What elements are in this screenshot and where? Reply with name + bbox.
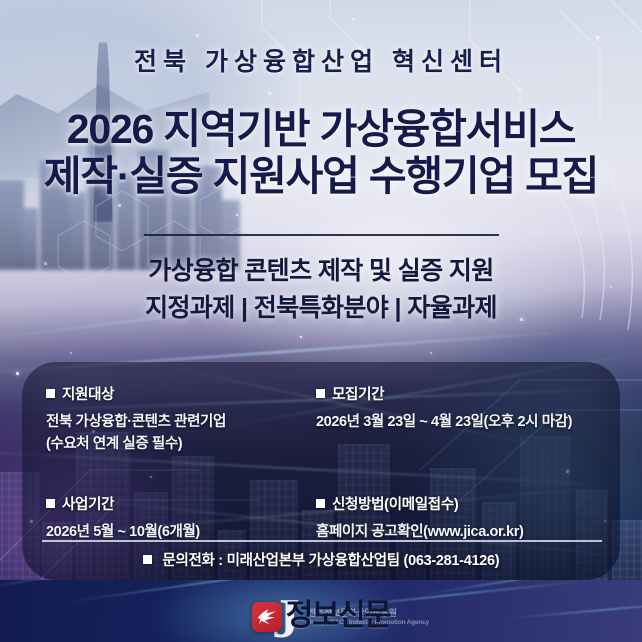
info-item-support-target: 지원대상 전북 가상융합·콘텐츠 관련기업 (수요처 연계 실증 필수) <box>46 383 316 456</box>
info-heading-label: 신청방법(이메일접수) <box>332 493 458 514</box>
contact-text: 문의전화 : 미래산업본부 가상융합산업팀 (063-281-4126) <box>162 553 499 569</box>
contact-line: 문의전화 : 미래산업본부 가상융합산업팀 (063-281-4126) <box>0 549 642 570</box>
bullet-square-icon <box>316 389 325 398</box>
info-heading: 모집기간 <box>316 383 606 404</box>
panel-divider <box>42 540 602 542</box>
info-body-line-1: 전북 가상융합·콘텐츠 관련기업 <box>46 411 316 433</box>
info-row: 지원대상 전북 가상융합·콘텐츠 관련기업 (수요처 연계 실증 필수) 모집기… <box>46 383 606 456</box>
jeongbo-sinmun-wordmark: 정보신문 <box>286 601 390 631</box>
footer-logo-area: J 전주정보문화산업진흥원 Jeonju IT&CT Industry Prom… <box>0 580 642 642</box>
jeongbo-sinmun-logo-icon <box>252 602 282 632</box>
info-heading: 신청방법(이메일접수) <box>316 493 606 514</box>
poster-subtitle-line-1: 가상융합 콘텐츠 제작 및 실증 지원 <box>0 251 642 287</box>
info-item-application-method: 신청방법(이메일접수) 홈페이지 공고확인(www.jica.or.kr) <box>316 493 606 543</box>
info-heading: 지원대상 <box>46 383 316 404</box>
poster-content: 전북 가상융합산업 혁신센터 2026 지역기반 가상융합서비스 제작·실증 지… <box>0 0 642 642</box>
poster-title-line-2: 제작·실증 지원사업 수행기업 모집 <box>0 142 642 202</box>
title-subtitle-divider <box>144 234 499 236</box>
footer-logo[interactable]: J 전주정보문화산업진흥원 Jeonju IT&CT Industry Prom… <box>252 601 390 641</box>
info-heading: 사업기간 <box>46 493 316 514</box>
info-body-line-1: 2026년 3월 23일 ~ 4월 23일(오후 2시 마감) <box>316 411 606 433</box>
info-body-line-2: (수요처 연계 실증 필수) <box>46 433 316 455</box>
info-item-project-period: 사업기간 2026년 5월 ~ 10월(6개월) <box>46 493 316 543</box>
bullet-square-icon <box>316 499 325 508</box>
bullet-square-icon <box>143 555 152 564</box>
poster-kicker: 전북 가상융합산업 혁신센터 <box>0 42 642 78</box>
info-heading-label: 사업기간 <box>62 493 114 514</box>
bullet-square-icon <box>46 499 55 508</box>
info-heading-label: 모집기간 <box>332 383 384 404</box>
poster-subtitle-line-2: 지정과제 | 전북특화분야 | 자율과제 <box>0 288 642 324</box>
info-heading-label: 지원대상 <box>62 383 114 404</box>
info-row: 사업기간 2026년 5월 ~ 10월(6개월) 신청방법(이메일접수) 홈페이… <box>46 493 606 543</box>
info-item-recruitment-period: 모집기간 2026년 3월 23일 ~ 4월 23일(오후 2시 마감) <box>316 383 606 456</box>
info-grid: 지원대상 전북 가상융합·콘텐츠 관련기업 (수요처 연계 실증 필수) 모집기… <box>46 383 606 543</box>
footer-bar: J 전주정보문화산업진흥원 Jeonju IT&CT Industry Prom… <box>0 580 642 642</box>
poster-canvas: 전북 가상융합산업 혁신센터 2026 지역기반 가상융합서비스 제작·실증 지… <box>0 0 642 642</box>
bullet-square-icon <box>46 389 55 398</box>
